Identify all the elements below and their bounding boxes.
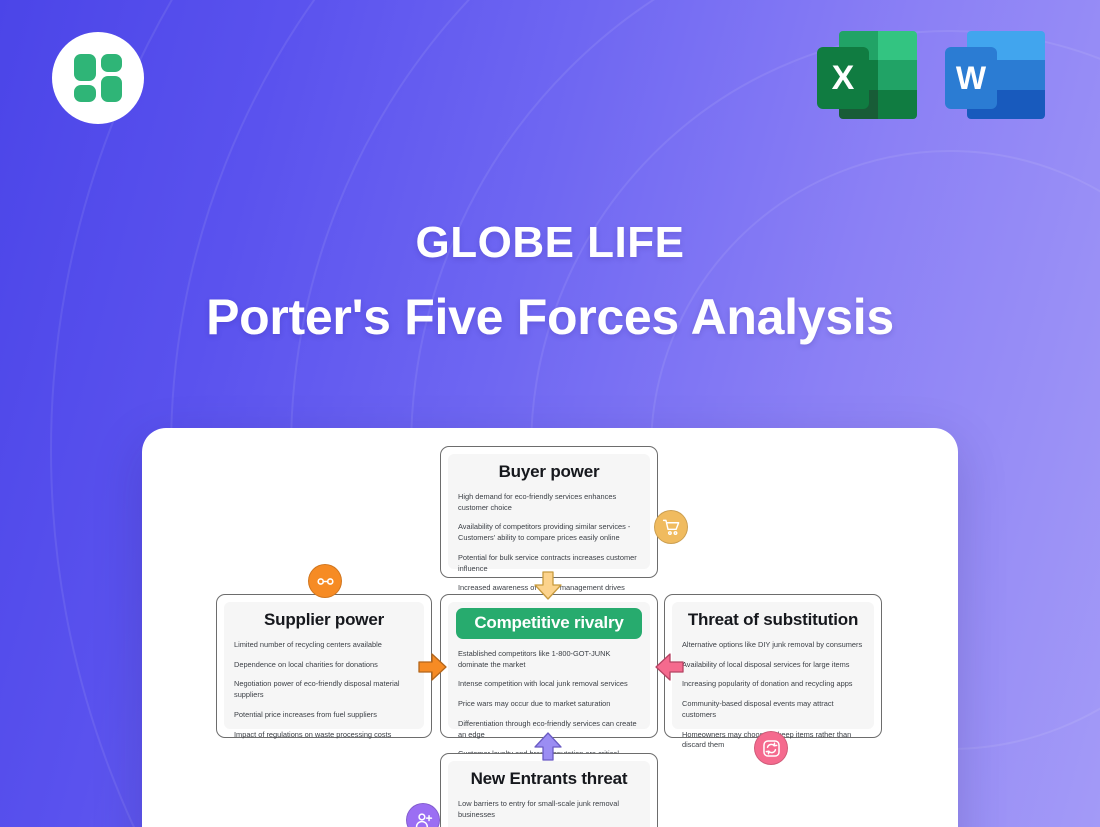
list-item: Alternative options like DIY junk remova…	[682, 640, 864, 651]
force-title-rivalry: Competitive rivalry	[456, 608, 642, 639]
force-box-threat-of-substitution[interactable]: Threat of substitution Alternative optio…	[664, 594, 882, 738]
shopping-cart-icon	[654, 510, 688, 544]
export-format-icons: X W	[817, 28, 1045, 128]
list-item: Low barriers to entry for small-scale ju…	[458, 799, 640, 820]
arrow-left-pink	[654, 652, 684, 682]
list-item: Limited number of recycling centers avai…	[234, 640, 414, 651]
force-title-supplier: Supplier power	[234, 610, 414, 630]
arrow-up-purple	[533, 731, 563, 761]
arrow-down-amber	[532, 571, 564, 601]
link-chain-icon	[308, 564, 342, 598]
brand-logo	[52, 32, 144, 124]
force-title-entrants: New Entrants threat	[458, 769, 640, 789]
slide-canvas: X W GLOBE LIFE Porter's Five Forces Anal…	[0, 0, 1100, 827]
list-item: Price wars may occur due to market satur…	[458, 699, 640, 710]
list-item: Negotiation power of eco-friendly dispos…	[234, 679, 414, 700]
list-item: Availability of competitors providing si…	[458, 522, 640, 543]
add-user-icon	[406, 803, 440, 827]
force-box-new-entrants-threat[interactable]: New Entrants threat Low barriers to entr…	[440, 753, 658, 827]
force-title-buyer: Buyer power	[458, 462, 640, 482]
list-item: Established competitors like 1-800-GOT-J…	[458, 649, 640, 670]
force-box-buyer-power[interactable]: Buyer power High demand for eco-friendly…	[440, 446, 658, 578]
grid-logo-icon	[74, 54, 122, 102]
force-box-competitive-rivalry[interactable]: Competitive rivalry Established competit…	[440, 594, 658, 738]
force-points-entrants: Low barriers to entry for small-scale ju…	[458, 799, 640, 827]
five-forces-diagram: Buyer power High demand for eco-friendly…	[142, 428, 958, 827]
list-item: Potential price increases from fuel supp…	[234, 710, 414, 721]
list-item: High demand for eco-friendly services en…	[458, 492, 640, 513]
list-item: Dependence on local charities for donati…	[234, 660, 414, 671]
arrow-right-orange	[418, 652, 448, 682]
word-icon[interactable]: W	[945, 28, 1045, 128]
page-title: Porter's Five Forces Analysis	[0, 288, 1100, 346]
word-letter: W	[945, 47, 997, 109]
list-item: Intense competition with local junk remo…	[458, 679, 640, 690]
force-box-supplier-power[interactable]: Supplier power Limited number of recycli…	[216, 594, 432, 738]
list-item: Availability of local disposal services …	[682, 660, 864, 671]
list-item: Impact of regulations on waste processin…	[234, 730, 414, 741]
force-points-supplier: Limited number of recycling centers avai…	[234, 640, 414, 740]
refresh-sync-icon	[754, 731, 788, 765]
list-item: Community-based disposal events may attr…	[682, 699, 864, 720]
excel-icon[interactable]: X	[817, 28, 917, 128]
list-item: Increasing popularity of donation and re…	[682, 679, 864, 690]
diagram-card: Buyer power High demand for eco-friendly…	[142, 428, 958, 827]
company-name: GLOBE LIFE	[0, 218, 1100, 268]
force-title-substitution: Threat of substitution	[682, 610, 864, 630]
excel-letter: X	[817, 47, 869, 109]
title-block: GLOBE LIFE Porter's Five Forces Analysis	[0, 218, 1100, 346]
